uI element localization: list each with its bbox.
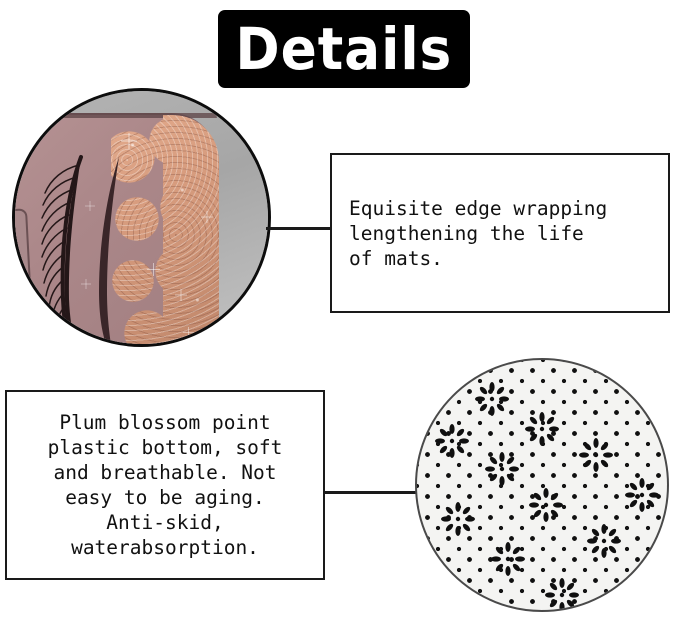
blossom-icon <box>579 438 613 472</box>
connector-bottom-line <box>323 491 418 494</box>
plum-blossom-bottom-photo <box>415 358 669 612</box>
details-title-banner: Details <box>218 10 470 88</box>
blossom-icon <box>587 524 621 558</box>
callout-plum-blossom-text: Plum blossom point plastic bottom, soft … <box>7 410 323 560</box>
blossom-icon <box>625 478 659 512</box>
blossom-icon <box>475 382 509 416</box>
blossom-icon <box>441 502 475 536</box>
callout-edge-wrapping: Equisite edge wrapping lengthening the l… <box>330 153 670 313</box>
eyelash-stroke-icon <box>89 153 137 347</box>
blossom-icon <box>435 424 469 458</box>
blossom-icon <box>491 542 525 576</box>
glitter-mat-photo <box>12 88 271 347</box>
blossom-icon <box>525 412 559 446</box>
blossom-icon <box>545 578 579 612</box>
connector-edge-line <box>266 227 332 230</box>
callout-plum-blossom: Plum blossom point plastic bottom, soft … <box>5 390 325 580</box>
callout-edge-wrapping-text: Equisite edge wrapping lengthening the l… <box>332 196 668 271</box>
page-title: Details <box>236 20 453 78</box>
blossom-icon <box>529 488 563 522</box>
blossom-icon <box>485 452 519 486</box>
